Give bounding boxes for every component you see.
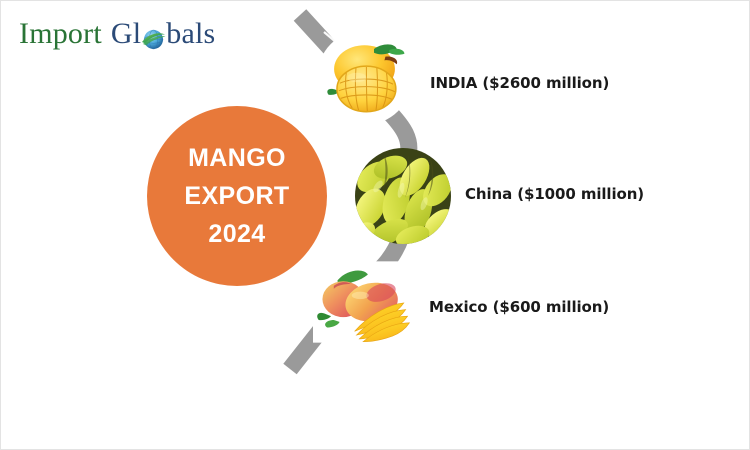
hub-line-3: 2024 (208, 215, 265, 253)
brand-name-gl: Gl (111, 17, 141, 51)
hub-line-2: EXPORT (184, 177, 289, 215)
node-label-india: INDIA ($2600 million) (430, 74, 609, 92)
node-label-mexico: Mexico ($600 million) (429, 298, 609, 316)
infographic-canvas: Import Gl (0, 0, 750, 450)
globe-icon (141, 26, 166, 51)
hub-mango-export-2024: MANGO EXPORT 2024 (147, 106, 327, 286)
node-label-china: China ($1000 million) (465, 185, 644, 203)
node-image-china (355, 148, 451, 244)
node-image-mexico (313, 261, 417, 343)
node-image-india (317, 30, 412, 125)
brand-logo[interactable]: Import Gl (19, 17, 215, 51)
hub-line-1: MANGO (188, 139, 286, 177)
brand-name-import: Import (19, 17, 102, 51)
brand-name-bals: bals (166, 17, 215, 51)
